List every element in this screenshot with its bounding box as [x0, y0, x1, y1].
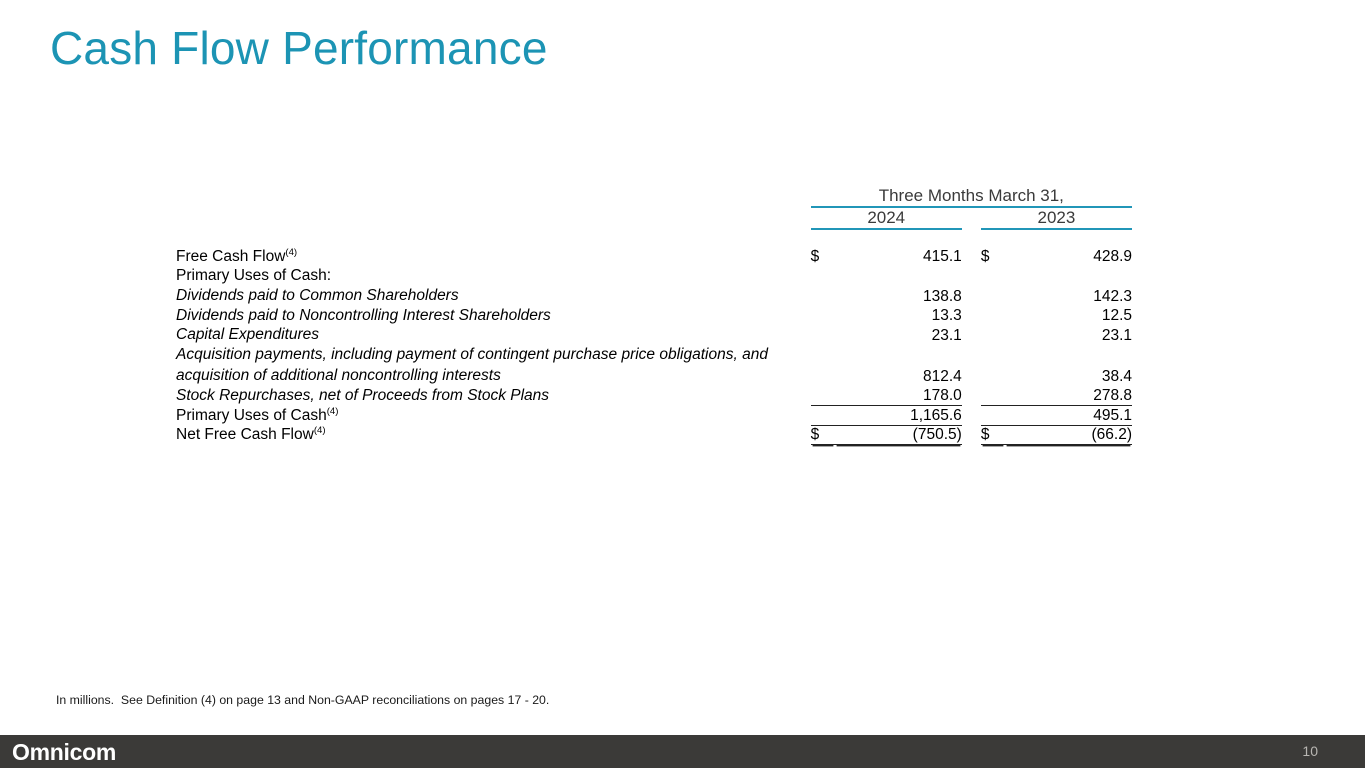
currency-symbol-2023 [981, 325, 1005, 345]
value-2024: 812.4 [835, 345, 962, 386]
row-label-text: Primary Uses of Cash [176, 407, 327, 424]
value-2023: (66.2) [1005, 425, 1132, 444]
currency-symbol-2023 [981, 406, 1005, 425]
value-2024: (750.5) [835, 425, 962, 444]
column-gap [962, 325, 981, 345]
row-label-stock-repurchases: Stock Repurchases, net of Proceeds from … [176, 386, 811, 406]
value-2023: 428.9 [1005, 247, 1132, 266]
value-2023: 142.3 [1005, 286, 1132, 306]
currency-symbol-2024: $ [811, 247, 835, 266]
cash-flow-table: Three Months March 31, 2024 2023 Free Ca… [176, 186, 1132, 445]
table-row: Free Cash Flow(4) $ 415.1 $ 428.9 [176, 247, 1132, 266]
table-header-span-row: Three Months March 31, [176, 186, 1132, 207]
footnote-ref: (4) [327, 406, 339, 417]
footer-bar: Omnicom 10 [0, 735, 1365, 768]
currency-symbol-2023 [981, 286, 1005, 306]
spacer-row [176, 229, 1132, 247]
table-row: Dividends paid to Noncontrolling Interes… [176, 306, 1132, 326]
currency-symbol-2024: $ [811, 425, 835, 444]
footnote-ref: (4) [314, 425, 326, 436]
currency-symbol-2024 [811, 266, 835, 285]
currency-symbol-2024 [811, 386, 835, 406]
value-2023: 495.1 [1005, 406, 1132, 425]
value-2024: 1,165.6 [835, 406, 962, 425]
footnote-ref: (4) [285, 247, 297, 258]
value-2024: 23.1 [835, 325, 962, 345]
row-label-text: Free Cash Flow [176, 248, 285, 265]
currency-symbol-2024 [811, 345, 835, 386]
column-gap [962, 406, 981, 425]
column-gap [962, 425, 981, 444]
currency-symbol-2023 [981, 306, 1005, 326]
column-gap [962, 345, 981, 386]
header-gap-cell [962, 207, 981, 229]
currency-symbol-2023 [981, 386, 1005, 406]
value-2024: 138.8 [835, 286, 962, 306]
row-label-acquisition-payments: Acquisition payments, including payment … [176, 345, 811, 386]
table-row: Primary Uses of Cash: [176, 266, 1132, 285]
currency-symbol-2023 [981, 266, 1005, 285]
omnicom-logo: Omnicom [12, 739, 116, 766]
column-gap [962, 306, 981, 326]
page-title: Cash Flow Performance [50, 22, 548, 75]
header-blank-cell-2 [176, 207, 811, 229]
row-label-primary-uses-heading: Primary Uses of Cash: [176, 266, 811, 285]
table-header-year-row: 2024 2023 [176, 207, 1132, 229]
value-2023: 38.4 [1005, 345, 1132, 386]
value-2024: 178.0 [835, 386, 962, 406]
row-label-capital-expenditures: Capital Expenditures [176, 325, 811, 345]
column-gap [962, 386, 981, 406]
value-2023: 278.8 [1005, 386, 1132, 406]
table-row: Dividends paid to Common Shareholders 13… [176, 286, 1132, 306]
row-label-text: Net Free Cash Flow [176, 426, 314, 443]
currency-symbol-2024 [811, 325, 835, 345]
footnote-text: In millions. See Definition (4) on page … [56, 693, 549, 707]
row-label-dividends-noncontrolling: Dividends paid to Noncontrolling Interes… [176, 306, 811, 326]
header-period-label: Three Months March 31, [811, 186, 1132, 207]
header-blank-cell [176, 186, 811, 207]
table-row: Net Free Cash Flow(4) $ (750.5) $ (66.2) [176, 425, 1132, 444]
value-2023: 23.1 [1005, 325, 1132, 345]
page-number: 10 [1302, 743, 1318, 759]
value-2024: 13.3 [835, 306, 962, 326]
table-row: Capital Expenditures 23.1 23.1 [176, 325, 1132, 345]
table-row: Primary Uses of Cash(4) 1,165.6 495.1 [176, 406, 1132, 425]
table-row: Stock Repurchases, net of Proceeds from … [176, 386, 1132, 406]
table-row: Acquisition payments, including payment … [176, 345, 1132, 386]
value-2024: 415.1 [835, 247, 962, 266]
row-label-primary-uses-total: Primary Uses of Cash(4) [176, 406, 811, 425]
currency-symbol-2023: $ [981, 425, 1005, 444]
spacer-cell [176, 229, 1132, 247]
currency-symbol-2024 [811, 286, 835, 306]
value-2023: 12.5 [1005, 306, 1132, 326]
column-gap [962, 286, 981, 306]
header-year-2023: 2023 [981, 207, 1132, 229]
column-gap [962, 266, 981, 285]
column-gap [962, 247, 981, 266]
currency-symbol-2024 [811, 306, 835, 326]
currency-symbol-2024 [811, 406, 835, 425]
row-label-free-cash-flow: Free Cash Flow(4) [176, 247, 811, 266]
currency-symbol-2023 [981, 345, 1005, 386]
row-label-net-free-cash-flow: Net Free Cash Flow(4) [176, 425, 811, 444]
value-2024 [835, 266, 962, 285]
value-2023 [1005, 266, 1132, 285]
row-label-dividends-common: Dividends paid to Common Shareholders [176, 286, 811, 306]
currency-symbol-2023: $ [981, 247, 1005, 266]
header-year-2024: 2024 [811, 207, 962, 229]
